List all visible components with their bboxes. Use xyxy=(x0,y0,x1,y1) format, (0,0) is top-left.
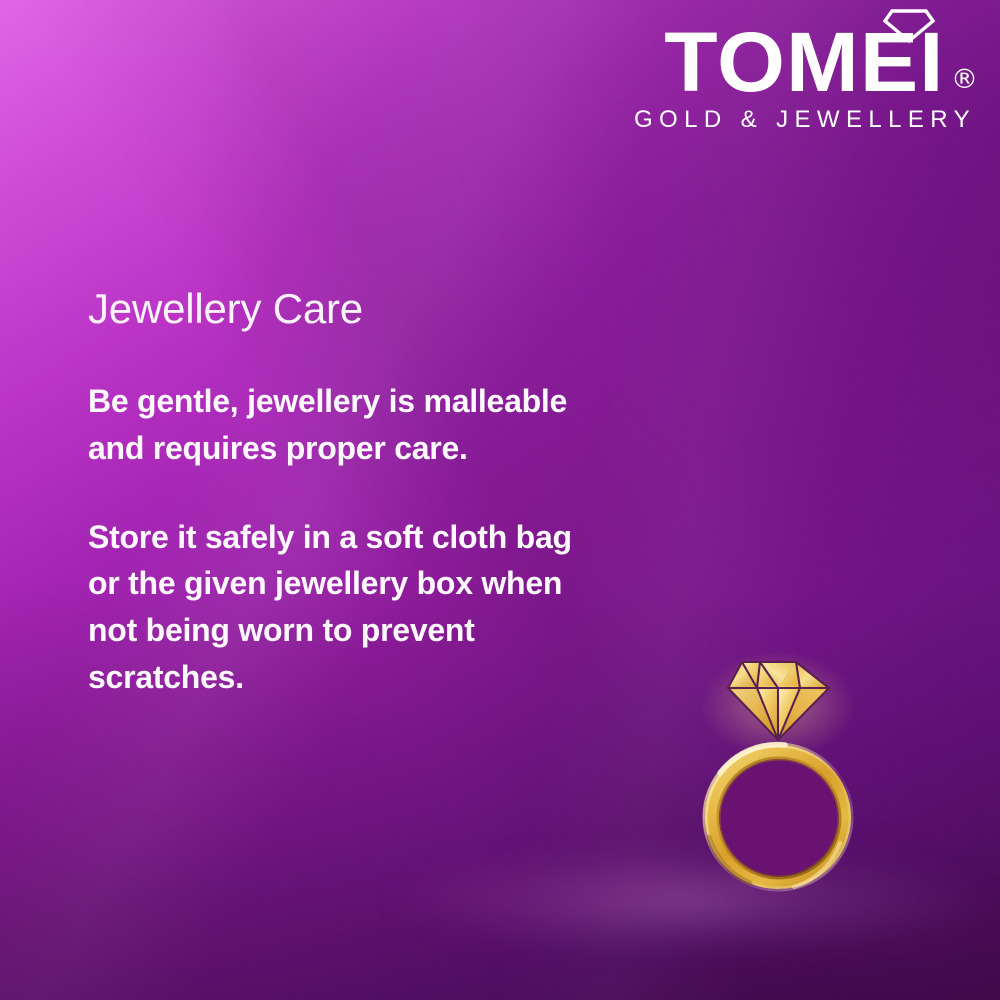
registered-trademark-icon: ® xyxy=(951,66,978,93)
copy-block: Jewellery Care Be gentle, jewellery is m… xyxy=(88,286,648,701)
diamond-ring-illustration xyxy=(690,645,890,905)
wordmark-row: TOMEI ® xyxy=(634,4,978,100)
brand-wordmark: TOMEI xyxy=(664,26,944,100)
page-title: Jewellery Care xyxy=(88,286,648,332)
ring-band xyxy=(705,745,851,889)
care-paragraph-2: Store it safely in a soft cloth bag or t… xyxy=(88,514,648,701)
brand-logo: TOMEI ® GOLD & JEWELLERY xyxy=(634,4,978,134)
care-paragraph-1: Be gentle, jewellery is malleable and re… xyxy=(88,378,648,471)
brand-tagline: GOLD & JEWELLERY xyxy=(634,106,976,134)
poster-canvas: TOMEI ® GOLD & JEWELLERY Jewellery Care … xyxy=(0,0,1000,1000)
